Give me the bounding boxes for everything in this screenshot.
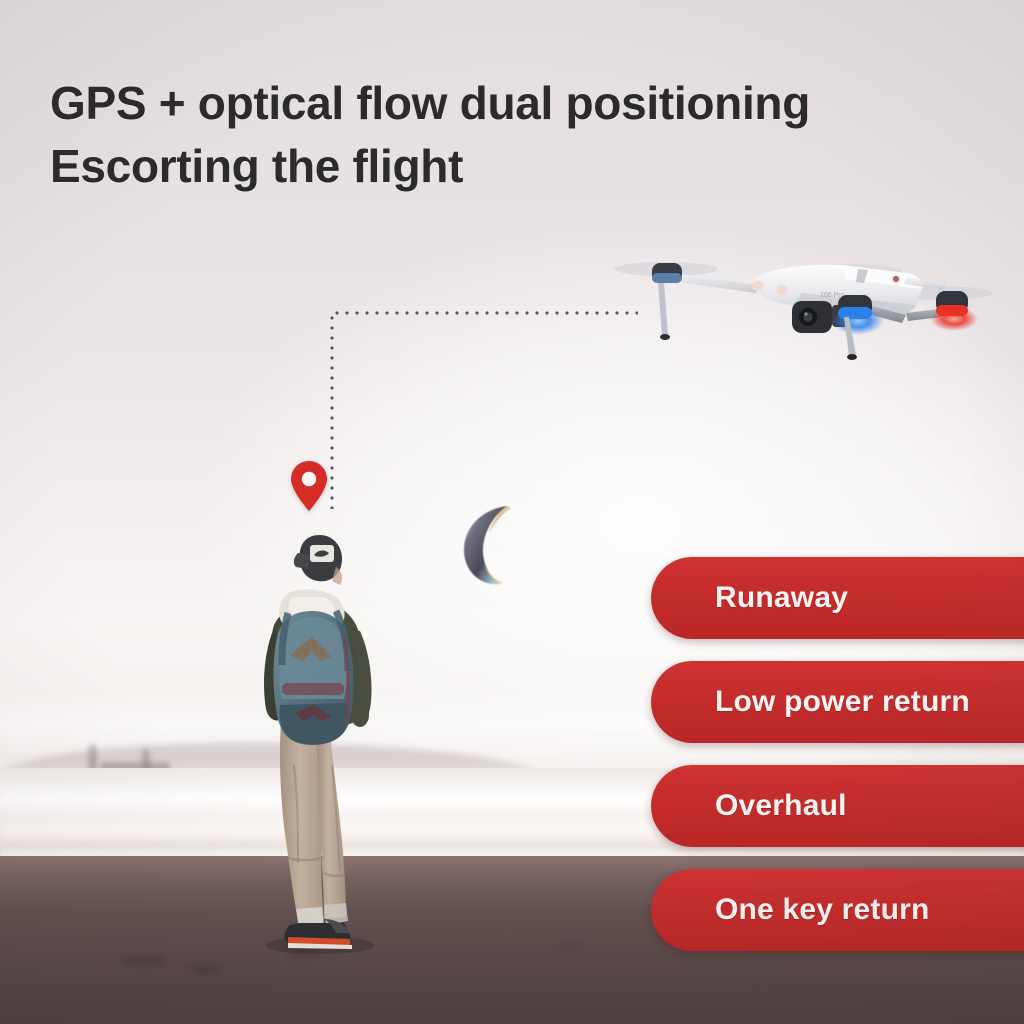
feature-pill-label: Overhaul <box>715 789 847 823</box>
product-feature-poster: GPS + optical flow dual positioning Esco… <box>0 0 1024 1024</box>
feature-pill-runaway[interactable]: Runaway <box>651 557 1024 639</box>
feature-pill-low-power-return[interactable]: Low power return <box>651 661 1024 743</box>
sand-mark <box>120 956 166 965</box>
quadcopter-drone-image: 106 Pro <box>606 243 1006 361</box>
feature-pill-label: One key return <box>715 893 930 927</box>
feature-pill-label: Low power return <box>715 685 970 719</box>
feature-pill-one-key-return[interactable]: One key return <box>651 869 1024 951</box>
sand-mark <box>556 944 586 952</box>
sand-mark <box>192 966 218 973</box>
gps-tracking-path-horizontal <box>332 311 638 315</box>
feature-pill-label: Runaway <box>715 581 848 615</box>
kitesurf-kite-icon <box>455 500 533 590</box>
walking-backpacker-image <box>232 505 412 955</box>
page-title: GPS + optical flow dual positioning Esco… <box>50 72 950 198</box>
feature-pill-overhaul[interactable]: Overhaul <box>651 765 1024 847</box>
gps-tracking-path-vertical <box>330 313 334 509</box>
